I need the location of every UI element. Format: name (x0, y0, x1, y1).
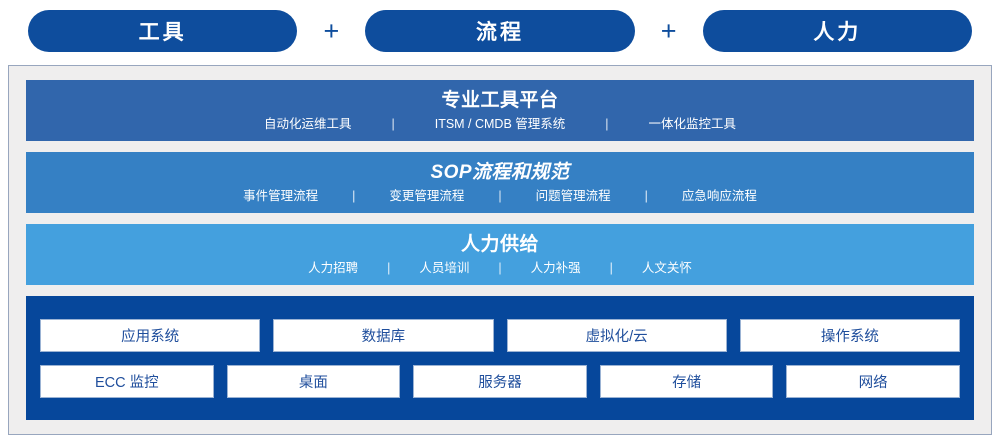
grid-cell-network[interactable]: 网络 (786, 365, 960, 398)
capability-architecture-diagram: 工具 + 流程 + 人力 专业工具平台 自动化运维工具 | ITSM / CMD… (0, 0, 1000, 442)
grid-cell-application-system[interactable]: 应用系统 (40, 319, 260, 352)
pill-process[interactable]: 流程 (365, 10, 634, 52)
grid-cell-ecc-monitoring[interactable]: ECC 监控 (40, 365, 214, 398)
plus-icon-1: + (297, 18, 365, 45)
top-pill-row: 工具 + 流程 + 人力 (0, 0, 1000, 62)
layer-items-tools: 自动化运维工具 | ITSM / CMDB 管理系统 | 一体化监控工具 (238, 117, 762, 132)
layer-items-manpower: 人力招聘 | 人员培训 | 人力补强 | 人文关怀 (292, 261, 708, 276)
layer-item[interactable]: 变更管理流程 (389, 189, 464, 204)
layer-band-manpower: 人力供给 人力招聘 | 人员培训 | 人力补强 | 人文关怀 (26, 224, 974, 285)
item-separator: | (603, 117, 610, 132)
item-separator: | (496, 189, 503, 204)
layer-band-tools: 专业工具平台 自动化运维工具 | ITSM / CMDB 管理系统 | 一体化监… (26, 80, 974, 141)
item-separator: | (496, 261, 503, 276)
pill-tools[interactable]: 工具 (28, 10, 297, 52)
grid-cell-database[interactable]: 数据库 (273, 319, 493, 352)
layer-item[interactable]: 自动化运维工具 (264, 117, 352, 132)
layer-band-process: SOP流程和规范 事件管理流程 | 变更管理流程 | 问题管理流程 | 应急响应… (26, 152, 974, 213)
plus-icon-2: + (635, 18, 703, 45)
layer-item[interactable]: 问题管理流程 (536, 189, 611, 204)
layer-title-manpower: 人力供给 (461, 233, 539, 257)
layer-item[interactable]: 事件管理流程 (243, 189, 318, 204)
item-separator: | (643, 189, 650, 204)
architecture-panel: 专业工具平台 自动化运维工具 | ITSM / CMDB 管理系统 | 一体化监… (8, 65, 992, 435)
pill-manpower[interactable]: 人力 (703, 10, 972, 52)
pill-tools-label: 工具 (139, 16, 187, 46)
pill-manpower-label: 人力 (813, 16, 861, 46)
layer-title-process: SOP流程和规范 (430, 161, 569, 185)
layer-items-process: 事件管理流程 | 变更管理流程 | 问题管理流程 | 应急响应流程 (222, 189, 778, 204)
layer-item[interactable]: 人力补强 (531, 261, 581, 276)
layer-item[interactable]: ITSM / CMDB 管理系统 (435, 117, 566, 132)
managed-objects-grid: 应用系统 数据库 虚拟化/云 操作系统 ECC 监控 桌面 服务器 存储 网络 (26, 296, 974, 420)
layer-title-tools: 专业工具平台 (441, 89, 558, 113)
item-separator: | (385, 261, 392, 276)
grid-cell-storage[interactable]: 存储 (600, 365, 774, 398)
grid-cell-operating-system[interactable]: 操作系统 (740, 319, 960, 352)
grid-cell-server[interactable]: 服务器 (413, 365, 587, 398)
layer-item[interactable]: 应急响应流程 (682, 189, 757, 204)
grid-row-2: ECC 监控 桌面 服务器 存储 网络 (40, 365, 960, 398)
grid-row-1: 应用系统 数据库 虚拟化/云 操作系统 (40, 319, 960, 352)
grid-cell-desktop[interactable]: 桌面 (227, 365, 401, 398)
layer-item[interactable]: 人员培训 (419, 261, 469, 276)
layer-item[interactable]: 人力招聘 (308, 261, 358, 276)
layer-item[interactable]: 人文关怀 (642, 261, 692, 276)
pill-process-label: 流程 (476, 16, 524, 46)
grid-cell-virtualization-cloud[interactable]: 虚拟化/云 (507, 319, 727, 352)
layer-item[interactable]: 一体化监控工具 (649, 117, 737, 132)
item-separator: | (608, 261, 615, 276)
item-separator: | (350, 189, 357, 204)
item-separator: | (389, 117, 396, 132)
